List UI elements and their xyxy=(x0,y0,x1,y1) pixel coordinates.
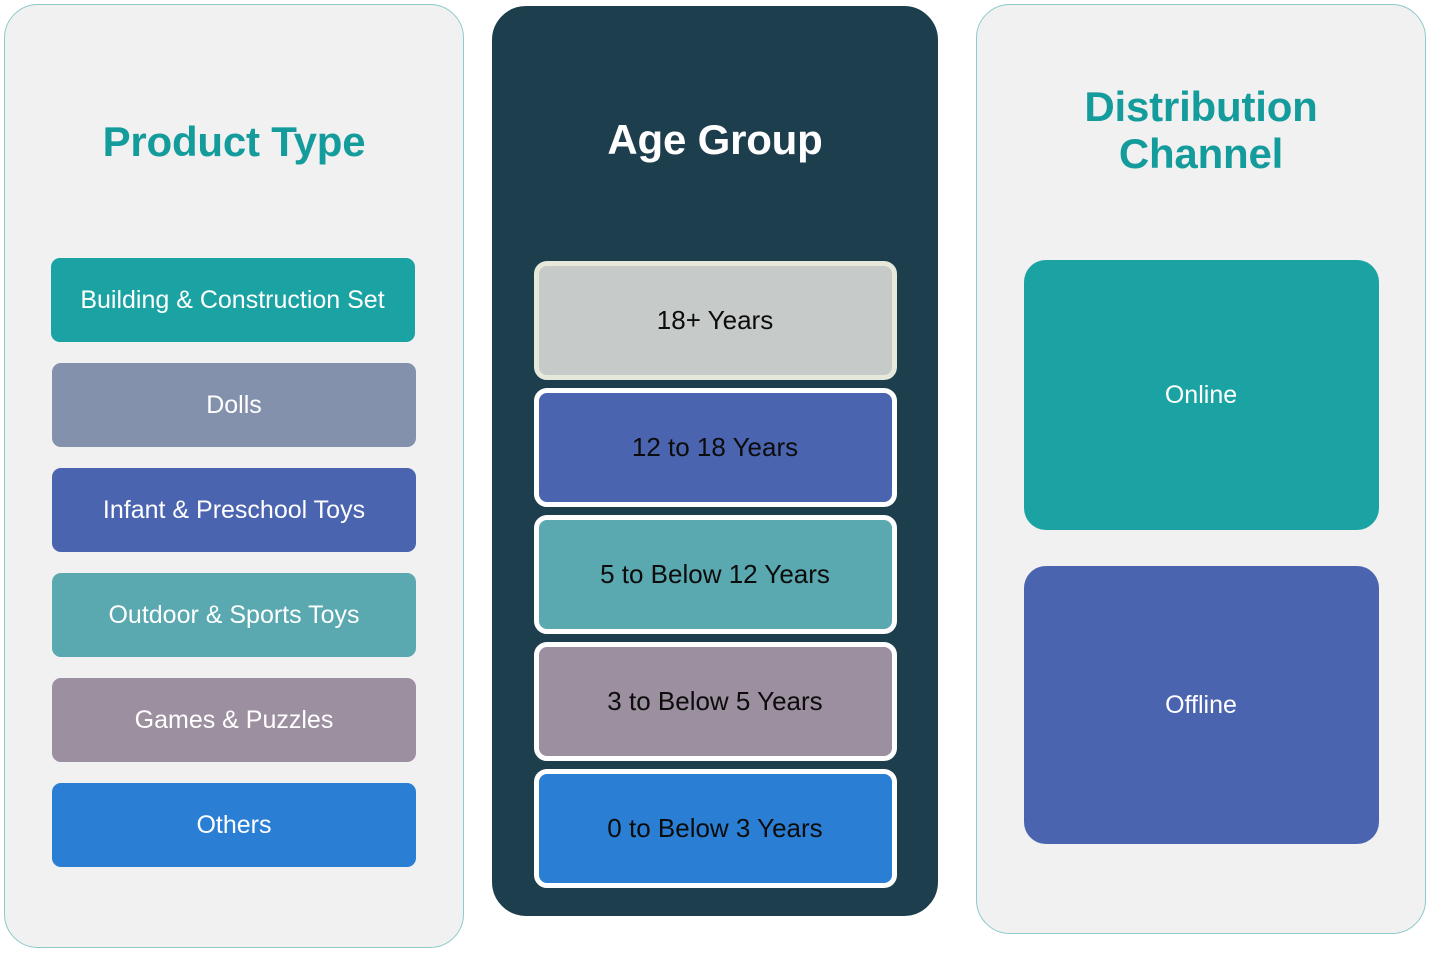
product-type-item-games-puzzles[interactable]: Games & Puzzles xyxy=(52,678,416,762)
age-group-item-18-plus-years[interactable]: 18+ Years xyxy=(534,261,897,380)
segmentation-diagram: Product Type Building & Construction Set… xyxy=(0,0,1430,954)
product-type-item-outdoor-sports-toys[interactable]: Outdoor & Sports Toys xyxy=(52,573,416,657)
chip-label: Games & Puzzles xyxy=(135,705,334,735)
product-type-item-dolls[interactable]: Dolls xyxy=(52,363,416,447)
panel-age-group: Age Group 18+ Years 12 to 18 Years 5 to … xyxy=(492,6,938,916)
distribution-channel-list: Online Offline xyxy=(977,260,1425,880)
product-type-item-others[interactable]: Others xyxy=(52,783,416,867)
chip-label: 5 to Below 12 Years xyxy=(600,559,830,590)
chip-label: Online xyxy=(1165,380,1237,410)
chip-label: Outdoor & Sports Toys xyxy=(108,600,359,630)
chip-label: Infant & Preschool Toys xyxy=(103,495,365,525)
product-type-item-infant-preschool-toys[interactable]: Infant & Preschool Toys xyxy=(52,468,416,552)
age-group-item-12-to-18-years[interactable]: 12 to 18 Years xyxy=(534,388,897,507)
product-type-list: Building & Construction Set Dolls Infant… xyxy=(5,258,463,888)
panel-title-product-type: Product Type xyxy=(103,118,366,165)
chip-label: 3 to Below 5 Years xyxy=(607,686,822,717)
chip-label: Dolls xyxy=(206,390,262,420)
chip-label: Building & Construction Set xyxy=(80,285,384,315)
product-type-item-building-construction-set[interactable]: Building & Construction Set xyxy=(51,258,415,342)
chip-label: Others xyxy=(196,810,271,840)
distribution-channel-item-offline[interactable]: Offline xyxy=(1024,566,1379,844)
chip-label: Offline xyxy=(1165,690,1237,720)
chip-label: 12 to 18 Years xyxy=(632,432,798,463)
chip-label: 0 to Below 3 Years xyxy=(607,813,822,844)
age-group-list: 18+ Years 12 to 18 Years 5 to Below 12 Y… xyxy=(493,261,937,896)
panel-distribution-channel: Distribution Channel Online Offline xyxy=(976,4,1426,934)
age-group-item-0-to-below-3-years[interactable]: 0 to Below 3 Years xyxy=(534,769,897,888)
age-group-item-5-to-below-12-years[interactable]: 5 to Below 12 Years xyxy=(534,515,897,634)
distribution-channel-item-online[interactable]: Online xyxy=(1024,260,1379,530)
chip-label: 18+ Years xyxy=(657,305,773,336)
age-group-item-3-to-below-5-years[interactable]: 3 to Below 5 Years xyxy=(534,642,897,761)
panel-title-distribution-channel: Distribution Channel xyxy=(1036,83,1366,177)
panel-title-age-group: Age Group xyxy=(607,116,822,163)
panel-product-type: Product Type Building & Construction Set… xyxy=(4,4,464,948)
